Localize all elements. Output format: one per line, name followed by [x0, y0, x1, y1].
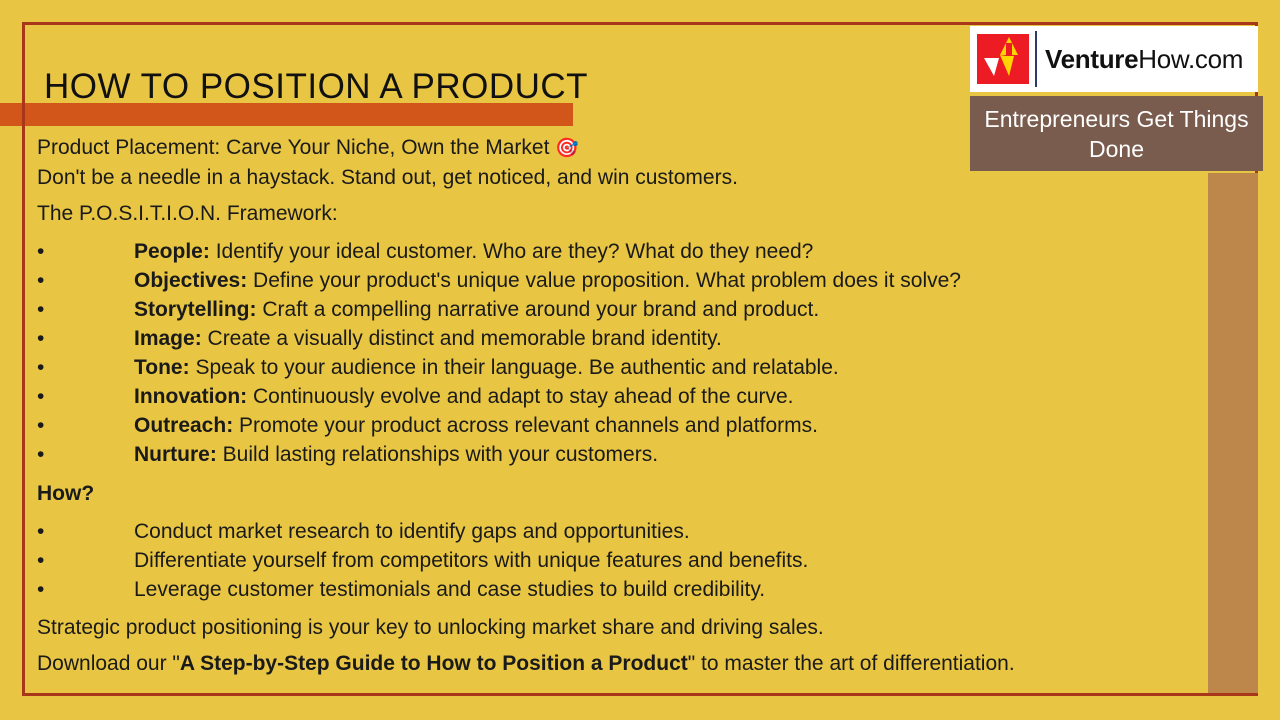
list-item-label: Objectives:	[134, 269, 247, 292]
list-item: • Nurture: Build lasting relationships w…	[37, 440, 1197, 469]
list-item: • People: Identify your ideal customer. …	[37, 237, 1197, 266]
bullet-icon: •	[37, 546, 134, 575]
bullet-icon: •	[37, 237, 134, 266]
list-item: • Leverage customer testimonials and cas…	[37, 575, 1197, 604]
list-item-label: People:	[134, 240, 210, 263]
list-item-text: Objectives: Define your product's unique…	[134, 266, 1197, 295]
bullet-icon: •	[37, 411, 134, 440]
list-item-label: Innovation:	[134, 385, 247, 408]
list-item-text: Leverage customer testimonials and case …	[134, 575, 1197, 604]
bullet-icon: •	[37, 440, 134, 469]
bullet-icon: •	[37, 324, 134, 353]
list-item-text: Differentiate yourself from competitors …	[134, 546, 1197, 575]
intro-line-1-text: Product Placement: Carve Your Niche, Own…	[37, 136, 549, 159]
target-emoji-icon: 🎯	[555, 138, 579, 159]
list-item: • Outreach: Promote your product across …	[37, 411, 1197, 440]
slide-canvas: HOW TO POSITION A PRODUCT VentureHow.com…	[0, 0, 1280, 720]
bullet-icon: •	[37, 517, 134, 546]
logo-wordmark: VentureHow.com	[1045, 44, 1243, 75]
how-heading: How?	[37, 479, 1197, 508]
list-item-label: Storytelling:	[134, 298, 257, 321]
list-item-body: Create a visually distinct and memorable…	[202, 327, 722, 350]
bullet-icon: •	[37, 266, 134, 295]
logo-wordmark-bold: Venture	[1045, 44, 1138, 74]
bullet-icon: •	[37, 575, 134, 604]
list-item-body: Build lasting relationships with your cu…	[217, 443, 658, 466]
list-item-text: Outreach: Promote your product across re…	[134, 411, 1197, 440]
logo-divider	[1035, 31, 1037, 87]
bullet-icon: •	[37, 295, 134, 324]
list-item-text: People: Identify your ideal customer. Wh…	[134, 237, 1197, 266]
list-item: • Storytelling: Craft a compelling narra…	[37, 295, 1197, 324]
list-item-label: Outreach:	[134, 414, 233, 437]
cta-prefix: Download our "	[37, 652, 180, 675]
list-item-label: Tone:	[134, 356, 190, 379]
spacer	[37, 604, 1197, 613]
intro-line-1: Product Placement: Carve Your Niche, Own…	[37, 133, 1197, 163]
list-item-body: Continuously evolve and adapt to stay ah…	[247, 385, 793, 408]
bullet-icon: •	[37, 382, 134, 411]
cta-line: Download our "A Step-by-Step Guide to Ho…	[37, 649, 1197, 678]
page-title: HOW TO POSITION A PRODUCT	[44, 63, 944, 111]
list-item: • Innovation: Continuously evolve and ad…	[37, 382, 1197, 411]
list-item-text: Image: Create a visually distinct and me…	[134, 324, 1197, 353]
cta-suffix: " to master the art of differentiation.	[688, 652, 1015, 675]
list-item-body: Promote your product across relevant cha…	[233, 414, 818, 437]
list-item-label: Nurture:	[134, 443, 217, 466]
list-item-label: Image:	[134, 327, 202, 350]
list-item-body: Speak to your audience in their language…	[190, 356, 839, 379]
intro-line-2: Don't be a needle in a haystack. Stand o…	[37, 163, 1197, 192]
list-item-text: Tone: Speak to your audience in their la…	[134, 353, 1197, 382]
cta-guide-title: A Step-by-Step Guide to How to Position …	[180, 652, 688, 675]
list-item-text: Storytelling: Craft a compelling narrati…	[134, 295, 1197, 324]
venturehow-v-arrow-icon	[975, 31, 1031, 87]
list-item-text: Conduct market research to identify gaps…	[134, 517, 1197, 546]
framework-heading: The P.O.S.I.T.I.O.N. Framework:	[37, 199, 1197, 228]
bullet-icon: •	[37, 353, 134, 382]
framework-bullet-list: • People: Identify your ideal customer. …	[37, 237, 1197, 469]
list-item-body: Identify your ideal customer. Who are th…	[210, 240, 814, 263]
closing-line: Strategic product positioning is your ke…	[37, 613, 1197, 642]
slide-body: Product Placement: Carve Your Niche, Own…	[37, 133, 1197, 678]
list-item: • Tone: Speak to your audience in their …	[37, 353, 1197, 382]
venturehow-logo[interactable]: VentureHow.com	[970, 26, 1258, 92]
list-item: • Objectives: Define your product's uniq…	[37, 266, 1197, 295]
right-decorative-column	[1208, 173, 1258, 693]
list-item-text: Nurture: Build lasting relationships wit…	[134, 440, 1197, 469]
logo-wordmark-regular: How.com	[1138, 44, 1243, 74]
how-bullet-list: • Conduct market research to identify ga…	[37, 517, 1197, 604]
spacer	[37, 228, 1197, 237]
list-item-body: Define your product's unique value propo…	[247, 269, 961, 292]
list-item-body: Craft a compelling narrative around your…	[257, 298, 820, 321]
spacer	[37, 508, 1197, 517]
list-item: • Differentiate yourself from competitor…	[37, 546, 1197, 575]
list-item-text: Innovation: Continuously evolve and adap…	[134, 382, 1197, 411]
list-item: • Image: Create a visually distinct and …	[37, 324, 1197, 353]
list-item: • Conduct market research to identify ga…	[37, 517, 1197, 546]
